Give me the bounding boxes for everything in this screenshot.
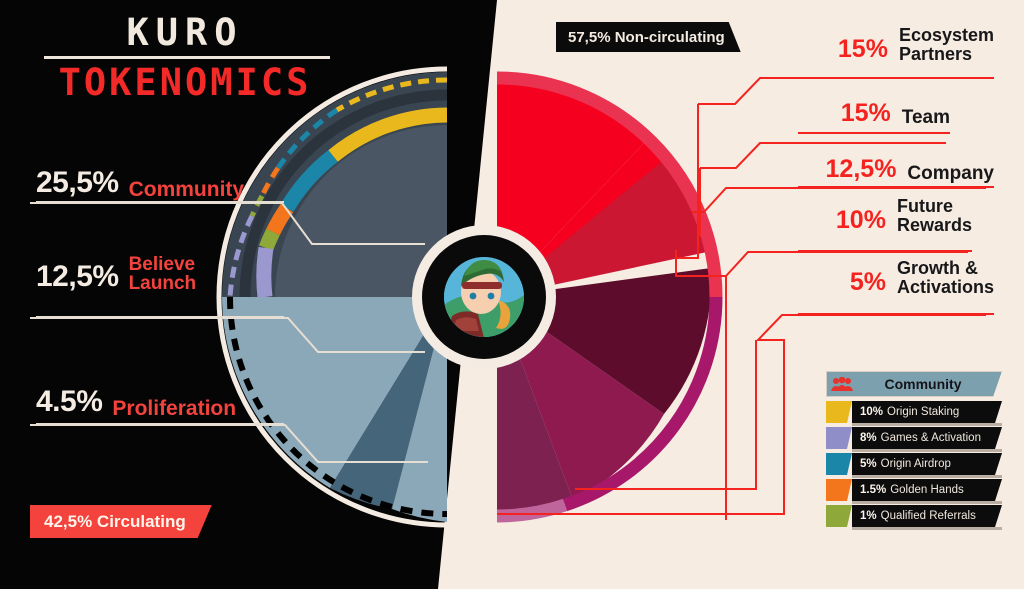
label-future-rewards-pct: 10% [836,206,886,235]
legend-swatch-golden-hands [826,479,852,501]
row-shadow [852,501,1002,504]
label-team: 15% Team [841,99,950,128]
status-badge-non-circulating: 57,5% Non-circulating [556,22,741,52]
label-underline-believe-launch [36,316,284,318]
legend-title: Community [857,376,1001,392]
label-ecosystem-partners-name: Ecosystem Partners [899,26,994,64]
legend-label-qualified-referrals: Qualified Referrals [881,510,976,522]
legend-label-golden-hands: Golden Hands [890,484,964,496]
legend-row-origin-airdrop: 5% Origin Airdrop [826,453,1002,475]
legend-pct-qualified-referrals: 1% [860,510,877,522]
tokenomics-infographic: KURO TOKENOMICS [0,0,1024,589]
label-community-name: Community [129,179,245,200]
community-legend: Community 10% Origin Staking 8% Games & … [826,371,1002,527]
row-shadow [852,449,1002,452]
legend-row-games-activation: 8% Games & Activation [826,427,1002,449]
label-believe-launch-pct: 12,5% [36,260,119,294]
label-company: 12,5% Company [826,155,994,184]
legend-row-golden-hands: 1.5% Golden Hands [826,479,1002,501]
label-ecosystem-partners-pct: 15% [838,35,888,64]
legend-pct-golden-hands: 1.5% [860,484,886,496]
label-ecosystem-partners: 15% Ecosystem Partners [838,26,994,64]
label-believe-launch-name: Believe Launch [129,255,197,294]
avatar [412,225,556,369]
label-underline-team [798,132,950,134]
legend-label-games-activation: Games & Activation [881,432,981,444]
legend-swatch-origin-staking [826,401,852,423]
legend-row-origin-staking: 10% Origin Staking [826,401,1002,423]
label-growth-activations-name: Growth & Activations [897,259,994,297]
legend-header: Community [826,371,1002,397]
legend-label-origin-airdrop: Origin Airdrop [881,458,951,470]
label-underline-community [36,201,284,203]
label-community: 25,5% Community [36,166,244,200]
label-team-pct: 15% [841,99,891,128]
label-proliferation-name: Proliferation [112,398,236,419]
label-team-name: Team [902,108,950,128]
label-future-rewards: 10% Future Rewards [836,197,972,235]
label-growth-activations-pct: 5% [850,268,886,297]
legend-swatch-qualified-referrals [826,505,852,527]
label-growth-activations: 5% Growth & Activations [850,259,994,297]
row-shadow [852,475,1002,478]
label-underline-proliferation [36,423,284,425]
label-company-name: Company [907,164,994,184]
row-shadow [852,527,1002,530]
label-underline-growth-activations [798,313,994,315]
label-underline-future-rewards [798,250,972,252]
legend-swatch-games-activation [826,427,852,449]
row-shadow [852,423,1002,426]
circulating-text: 42,5% Circulating [44,512,186,532]
label-community-pct: 25,5% [36,166,119,200]
legend-row-qualified-referrals: 1% Qualified Referrals [826,505,1002,527]
label-underline-ecosystem-partners [798,77,994,79]
label-proliferation: 4.5% Proliferation [36,385,236,419]
label-believe-launch: 12,5% Believe Launch [36,255,196,294]
label-underline-company [798,186,994,188]
status-badge-circulating: 42,5% Circulating [30,505,212,538]
label-company-pct: 12,5% [826,155,897,184]
legend-pct-games-activation: 8% [860,432,877,444]
legend-pct-origin-staking: 10% [860,406,883,418]
label-proliferation-pct: 4.5% [36,385,102,419]
non-circulating-text: 57,5% Non-circulating [568,29,725,46]
legend-pct-origin-airdrop: 5% [860,458,877,470]
legend-label-origin-staking: Origin Staking [887,406,959,418]
label-future-rewards-name: Future Rewards [897,197,972,235]
legend-swatch-origin-airdrop [826,453,852,475]
people-icon [827,377,857,392]
